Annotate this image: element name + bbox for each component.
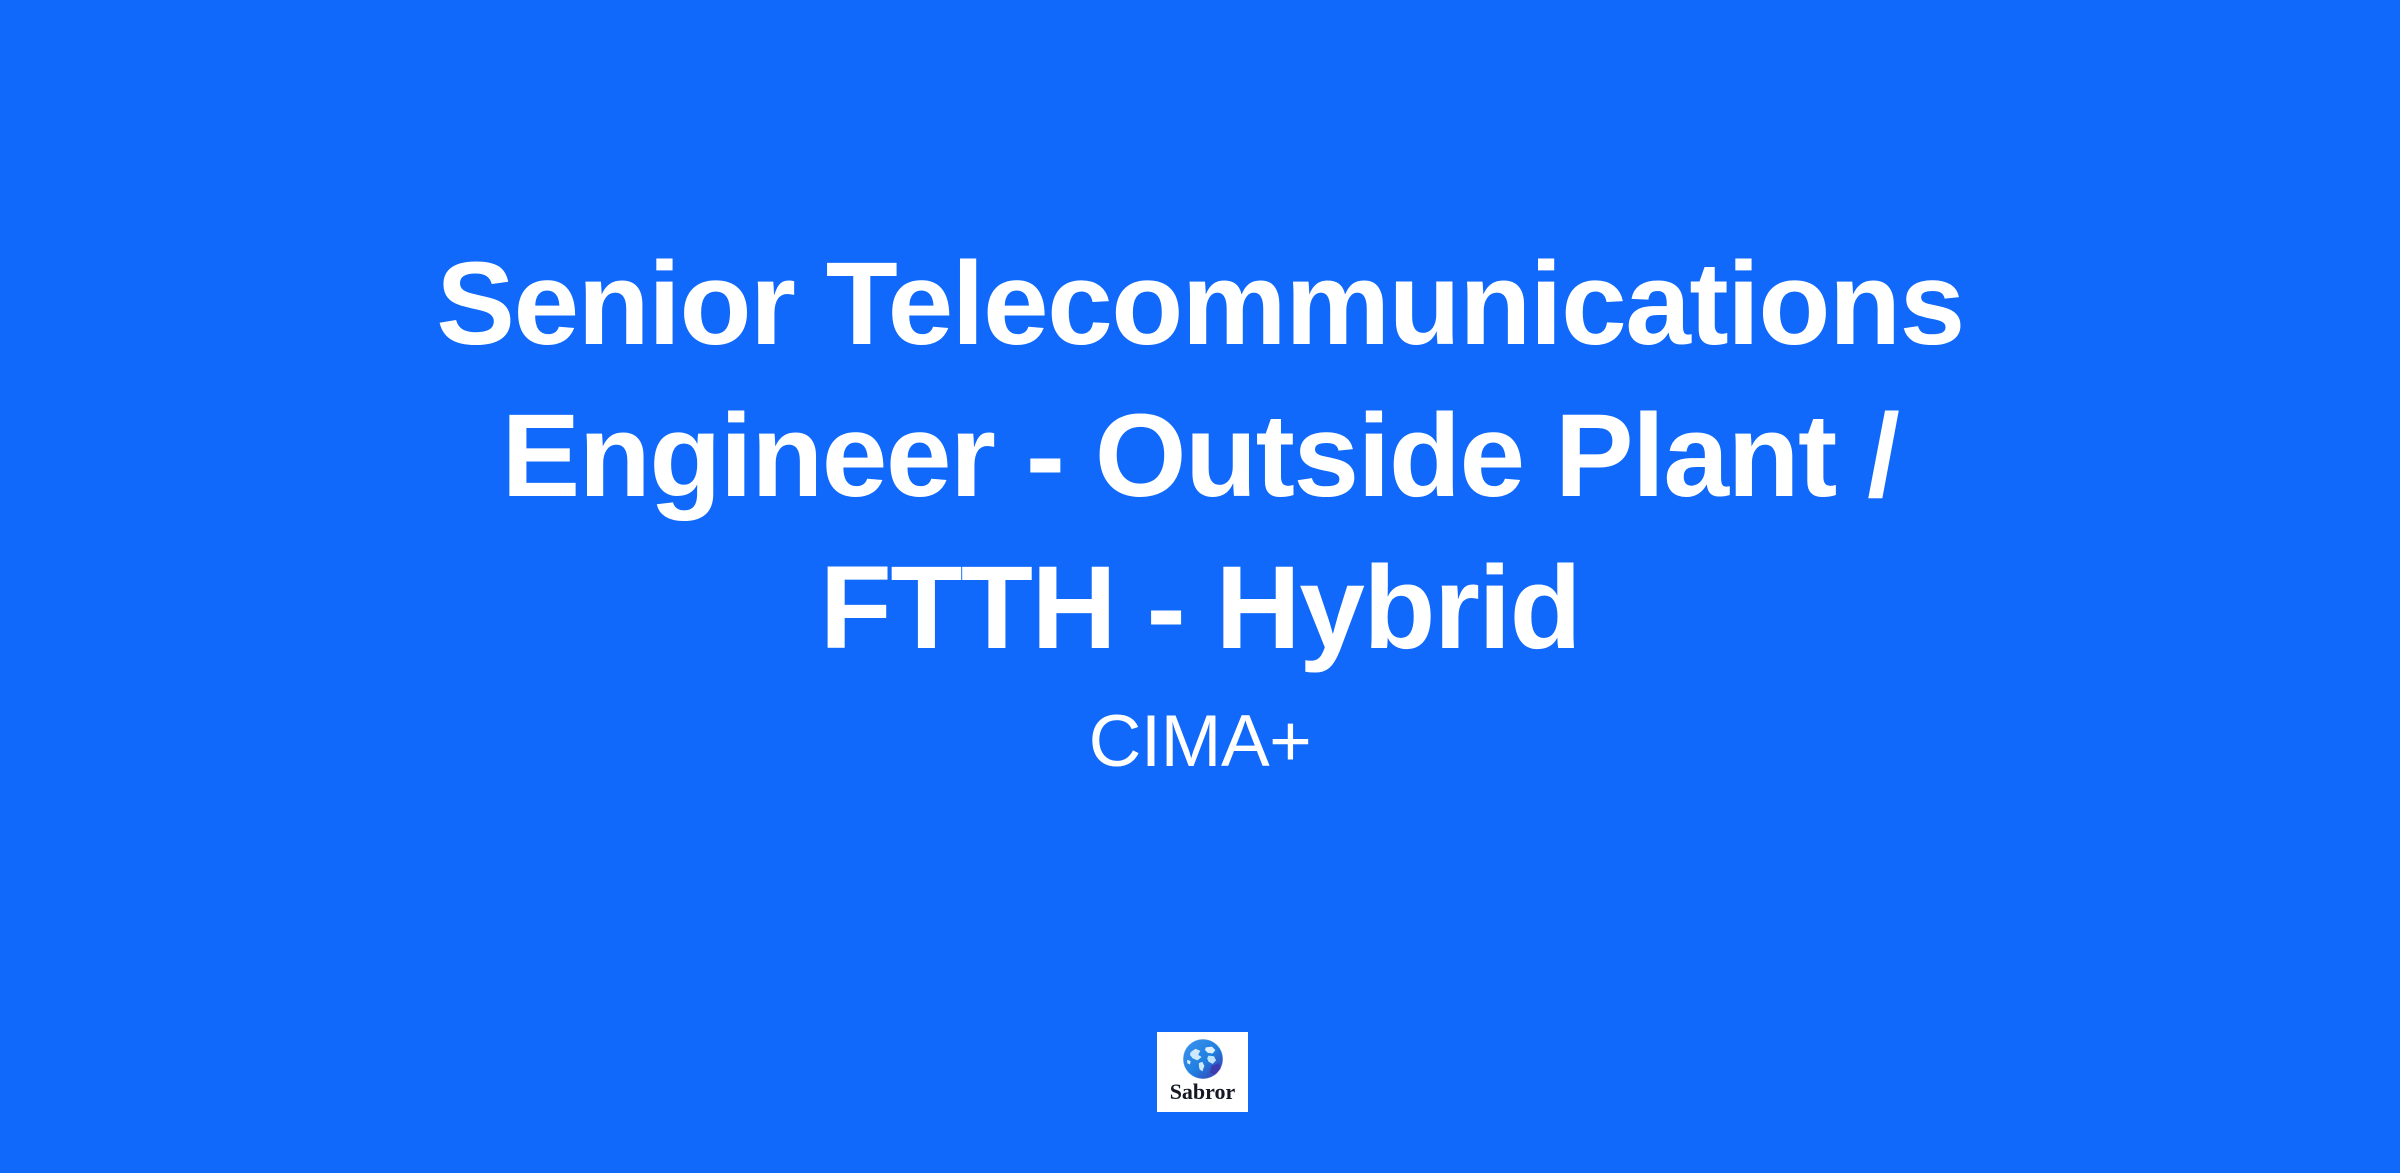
page-title: Senior Telecommunications Engineer - Out… bbox=[420, 228, 1980, 684]
brand-badge[interactable]: Sabror bbox=[1157, 1032, 1248, 1112]
company-name: CIMA+ bbox=[1089, 698, 1312, 786]
globe-icon bbox=[1181, 1037, 1225, 1081]
hero-section: Senior Telecommunications Engineer - Out… bbox=[0, 0, 2400, 786]
job-posting-card: Senior Telecommunications Engineer - Out… bbox=[0, 0, 2400, 1173]
brand-wordmark: Sabror bbox=[1170, 1080, 1236, 1104]
